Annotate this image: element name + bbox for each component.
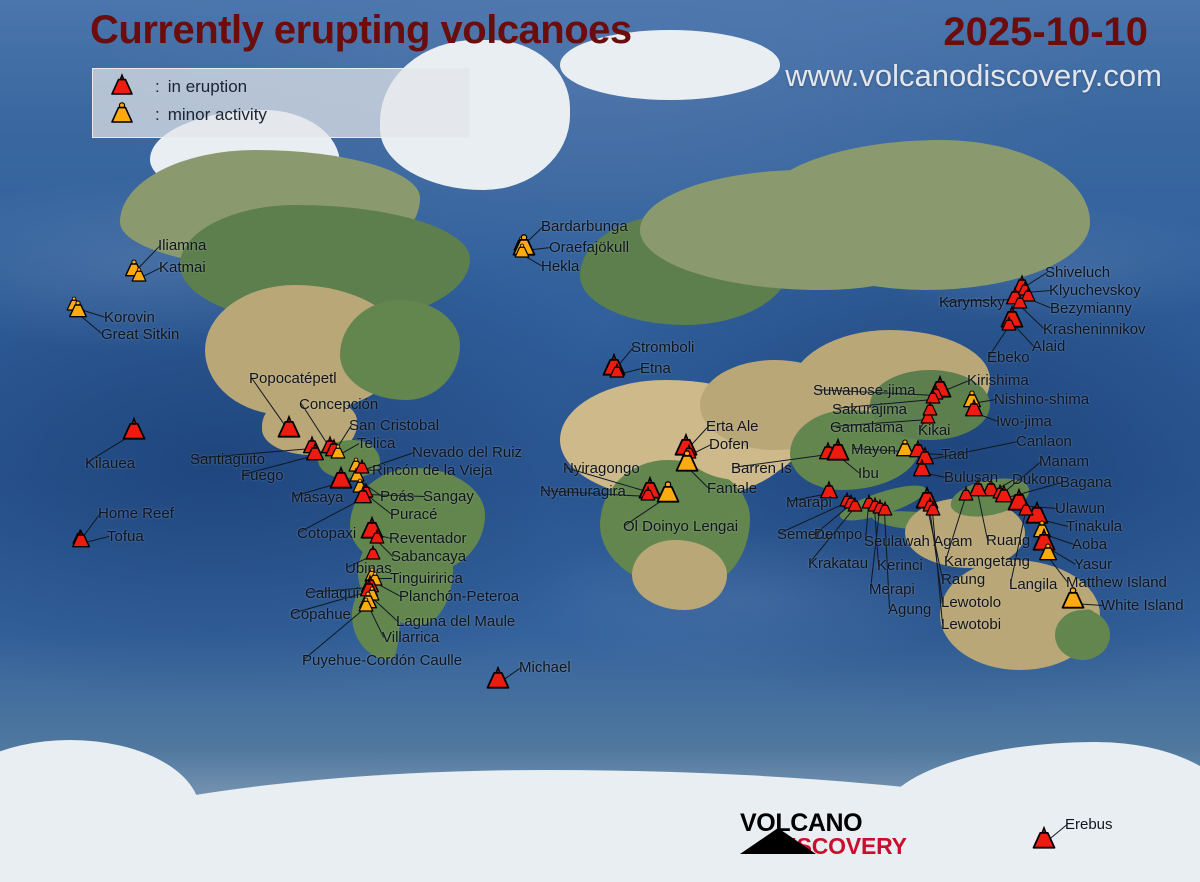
volcano-label: Etna bbox=[640, 361, 671, 376]
volcano-marker-hekla[interactable] bbox=[514, 243, 531, 259]
volcano-label: Puracé bbox=[390, 507, 438, 522]
volcano-label: Rincón de la Vieja bbox=[372, 463, 493, 478]
volcano-mountain-icon bbox=[740, 828, 816, 854]
volcano-label: Canlaon bbox=[1016, 434, 1072, 449]
volcano-marker-ibu[interactable] bbox=[825, 438, 851, 462]
legend-colon-2: : bbox=[155, 105, 160, 125]
volcano-label: Cotopaxi bbox=[297, 526, 356, 541]
volcano-label: Ubinas bbox=[345, 561, 392, 576]
volcano-label: Great Sitkin bbox=[101, 327, 179, 342]
volcanodiscovery-logo: VOLCANO DISCOVERY bbox=[740, 812, 900, 858]
volcano-marker-ebeko[interactable] bbox=[1001, 316, 1018, 332]
volcano-label: Klyuchevskoy bbox=[1049, 283, 1141, 298]
volcano-marker-tofua[interactable] bbox=[71, 530, 92, 549]
volcano-marker-nevado-del-ruiz[interactable] bbox=[354, 459, 371, 475]
map-date: 2025-10-10 bbox=[943, 10, 1148, 55]
volcano-label: Tinakula bbox=[1066, 519, 1122, 534]
volcano-marker-cotopaxi[interactable] bbox=[353, 486, 374, 505]
volcano-marker-iwo-jima[interactable] bbox=[964, 399, 985, 418]
volcano-label: Nishino-shima bbox=[994, 392, 1089, 407]
volcano-label: Katmai bbox=[159, 260, 206, 275]
volcano-label: Copahue bbox=[290, 607, 351, 622]
volcano-label: Suwanose-jima bbox=[813, 383, 916, 398]
volcano-label: Ebeko bbox=[987, 350, 1030, 365]
volcano-label: Yasur bbox=[1074, 557, 1112, 572]
volcano-label: Karangetang bbox=[944, 554, 1030, 569]
volcano-marker-katmai[interactable] bbox=[131, 267, 148, 283]
volcano-label: Lewotolo bbox=[941, 595, 1001, 610]
volcano-label: Bezymianny bbox=[1050, 301, 1132, 316]
volcano-label: Puyehue-Cordón Caulle bbox=[302, 653, 462, 668]
volcano-label: Dukono bbox=[1012, 472, 1064, 487]
volcano-marker-popocat-petl[interactable] bbox=[276, 415, 302, 439]
volcano-label: San Cristobal bbox=[349, 418, 439, 433]
volcano-label: Krasheninnikov bbox=[1043, 322, 1146, 337]
volcano-label: Fantale bbox=[707, 481, 757, 496]
volcano-marker-sabancaya[interactable] bbox=[369, 529, 386, 545]
volcano-label: Santiaguito bbox=[190, 452, 265, 467]
volcano-label: Mayon bbox=[851, 442, 896, 457]
volcano-label: Masaya bbox=[291, 490, 344, 505]
volcano-label: Alaid bbox=[1032, 339, 1065, 354]
volcano-marker-erebus[interactable] bbox=[1031, 826, 1057, 850]
volcano-label: Michael bbox=[519, 660, 571, 675]
volcano-label: Hekla bbox=[541, 259, 579, 274]
volcano-label: Ol Doinyo Lengai bbox=[623, 519, 738, 534]
volcano-marker-agung[interactable] bbox=[877, 501, 894, 517]
volcano-label: Sakurajima bbox=[832, 402, 907, 417]
legend-label-minor-activity: minor activity bbox=[168, 105, 267, 125]
volcano-label: Planchón-Peteroa bbox=[399, 589, 519, 604]
volcano-label: Nevado del Ruiz bbox=[412, 445, 522, 460]
volcano-label: Nyiragongo bbox=[563, 461, 640, 476]
volcano-label: Raung bbox=[941, 572, 985, 587]
legend-label-in-eruption: in eruption bbox=[168, 77, 247, 97]
volcano-marker-nyamuragira[interactable] bbox=[640, 486, 657, 502]
volcano-marker-ol-doinyo-lengai[interactable] bbox=[655, 480, 681, 504]
volcano-label: White Island bbox=[1101, 598, 1184, 613]
volcano-label: Iwo-jima bbox=[996, 414, 1052, 429]
volcano-label: Gamalama bbox=[830, 420, 903, 435]
volcano-label: Bardarbunga bbox=[541, 219, 628, 234]
volcano-marker-langila[interactable] bbox=[1018, 501, 1035, 517]
legend-item-in-eruption: : in eruption bbox=[109, 73, 247, 101]
volcano-label: Kikai bbox=[918, 423, 951, 438]
volcano-label: Sangay bbox=[423, 489, 474, 504]
volcano-label: Concepción bbox=[299, 397, 378, 412]
volcano-label: Bulusan bbox=[944, 470, 998, 485]
volcano-label: Erebus bbox=[1065, 817, 1113, 832]
volcano-label: Karymsky bbox=[939, 295, 1005, 310]
volcano-label: Korovin bbox=[104, 310, 155, 325]
volcano-label: Oraefajökull bbox=[549, 240, 629, 255]
volcano-marker-etna[interactable] bbox=[609, 363, 626, 379]
volcano-label: Laguna del Maule bbox=[396, 614, 515, 629]
website-watermark: www.volcanodiscovery.com bbox=[785, 58, 1162, 94]
volcano-label: Manam bbox=[1039, 454, 1089, 469]
volcano-marker-fantale[interactable] bbox=[674, 449, 700, 473]
volcano-marker-michael[interactable] bbox=[485, 666, 511, 690]
volcano-label: Iliamna bbox=[158, 238, 206, 253]
volcano-label: Kirishima bbox=[967, 373, 1029, 388]
volcano-label: Barren Is bbox=[731, 461, 792, 476]
volcano-label: Telica bbox=[357, 436, 395, 451]
volcano-label: Agung bbox=[888, 602, 931, 617]
volcano-red-icon bbox=[109, 73, 135, 102]
volcano-label: Ruang bbox=[986, 533, 1030, 548]
volcano-label: Krakatau bbox=[808, 556, 868, 571]
volcano-label: Poás bbox=[380, 489, 414, 504]
volcano-marker-ubinas[interactable] bbox=[365, 545, 382, 561]
volcano-label: Tinguiririca bbox=[390, 571, 463, 586]
volcano-marker-great-sitkin[interactable] bbox=[68, 300, 89, 319]
volcano-label: Home Reef bbox=[98, 506, 174, 521]
volcano-label: Lewotobi bbox=[941, 617, 1001, 632]
volcano-label: Popocatépetl bbox=[249, 371, 337, 386]
volcano-label: Reventador bbox=[389, 531, 467, 546]
volcano-marker-kilauea[interactable] bbox=[121, 417, 147, 441]
volcano-label: Langila bbox=[1009, 577, 1057, 592]
legend-colon-1: : bbox=[155, 77, 160, 97]
volcano-marker-telica[interactable] bbox=[330, 444, 347, 460]
volcano-marker-matthew-island[interactable] bbox=[1038, 543, 1059, 562]
volcano-marker-lewotobi[interactable] bbox=[925, 501, 942, 517]
volcano-label: Dempo bbox=[814, 527, 862, 542]
volcano-world-map: Currently erupting volcanoes 2025-10-10 … bbox=[0, 0, 1200, 882]
volcano-label: Nyamuragira bbox=[540, 484, 626, 499]
legend-box: : in eruption : minor activity bbox=[92, 68, 470, 138]
volcano-label: Kerinci bbox=[877, 558, 923, 573]
volcano-label: Matthew Island bbox=[1066, 575, 1167, 590]
volcano-label: Marapi bbox=[786, 495, 832, 510]
page-title: Currently erupting volcanoes bbox=[90, 8, 632, 53]
volcano-label: Fuego bbox=[241, 468, 284, 483]
volcano-label: Shiveluch bbox=[1045, 265, 1110, 280]
volcano-label: Ibu bbox=[858, 466, 879, 481]
legend-item-minor-activity: : minor activity bbox=[109, 101, 267, 129]
volcano-marker-bulusan[interactable] bbox=[912, 459, 933, 478]
volcano-label: Villarrica bbox=[382, 630, 439, 645]
volcano-label: Seulawah Agam bbox=[864, 534, 972, 549]
volcano-orange-icon bbox=[109, 101, 135, 130]
volcano-label: Merapi bbox=[869, 582, 915, 597]
volcano-marker-puyehue-cord-n-caulle[interactable] bbox=[358, 597, 375, 613]
volcano-label: Aoba bbox=[1072, 537, 1107, 552]
volcano-label: Bagana bbox=[1060, 475, 1112, 490]
volcano-label: Tofua bbox=[107, 529, 144, 544]
volcano-label: Callaqui bbox=[305, 586, 359, 601]
volcano-marker-karangetang[interactable] bbox=[958, 486, 975, 502]
volcano-label: Ulawun bbox=[1055, 501, 1105, 516]
volcano-label: Kilauea bbox=[85, 456, 135, 471]
volcano-label: Sabancaya bbox=[391, 549, 466, 564]
volcano-label: Taal bbox=[941, 447, 969, 462]
volcano-label: Dofen bbox=[709, 437, 749, 452]
volcano-label: Stromboli bbox=[631, 340, 694, 355]
volcano-label: Erta Ale bbox=[706, 419, 759, 434]
volcano-marker-kikai[interactable] bbox=[922, 401, 939, 417]
